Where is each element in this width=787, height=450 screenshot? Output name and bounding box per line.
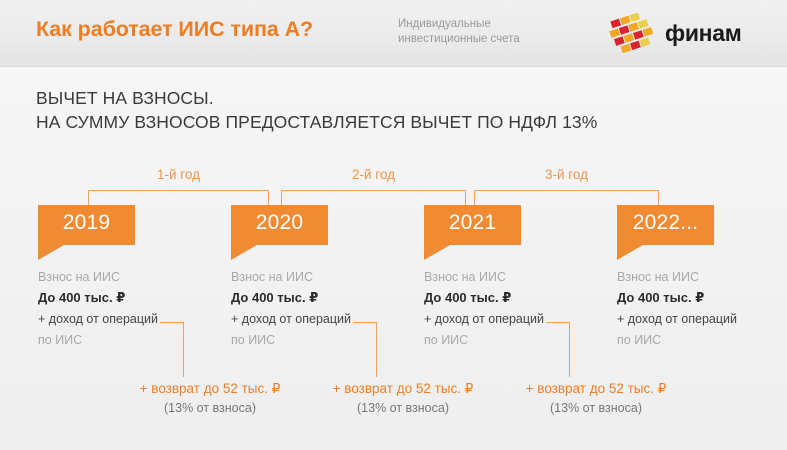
income-line-1: + доход от операций	[617, 309, 787, 330]
connector-horizontal-1	[160, 322, 184, 323]
year-tag-label: 2021	[424, 211, 521, 235]
connector-vertical-2	[376, 322, 377, 377]
connector-vertical-3	[569, 322, 570, 377]
year-tag-tail-icon	[617, 245, 643, 260]
income-line-1: + доход от операций	[38, 309, 228, 330]
year-bracket-3	[474, 190, 659, 206]
contribution-label: Взнос на ИИС	[617, 267, 787, 287]
page-header: Как работает ИИС типа А? Индивидуальные …	[0, 0, 787, 67]
year-bracket-label-1: 1-й год	[88, 167, 269, 182]
section-subtitle: ВЫЧЕТ НА ВЗНОСЫ. НА СУММУ ВЗНОСОВ ПРЕДОС…	[36, 86, 597, 134]
contribution-block-2019: Взнос на ИИС До 400 тыс. ₽ + доход от оп…	[38, 267, 228, 350]
year-column-2021: 2021 Взнос на ИИС До 400 тыс. ₽ + доход …	[424, 205, 614, 245]
year-tag-tail-icon	[424, 245, 450, 260]
year-tag-label: 2020	[231, 211, 328, 235]
finam-logo: финам	[607, 13, 771, 53]
year-tag-2019[interactable]: 2019	[38, 205, 135, 245]
refund-block-3: + возврат до 52 тыс. ₽ (13% от взноса)	[481, 379, 711, 418]
income-line-2: по ИИС	[38, 330, 228, 350]
year-bracket-1	[88, 190, 269, 206]
header-subtitle-line2: инвестиционные счета	[398, 33, 520, 45]
contribution-block-2022: Взнос на ИИС До 400 тыс. ₽ + доход от оп…	[617, 267, 787, 350]
contribution-label: Взнос на ИИС	[424, 267, 614, 287]
year-tag-2020[interactable]: 2020	[231, 205, 328, 245]
connector-vertical-1	[183, 322, 184, 377]
year-tag-tail-icon	[38, 245, 64, 260]
page-title: Как работает ИИС типа А?	[36, 17, 313, 42]
year-column-2022: 2022... Взнос на ИИС До 400 тыс. ₽ + дох…	[617, 205, 787, 245]
year-bracket-label-2: 2-й год	[281, 167, 466, 182]
year-tag-2021[interactable]: 2021	[424, 205, 521, 245]
income-line-2: по ИИС	[617, 330, 787, 350]
finam-logo-text: финам	[665, 20, 741, 47]
income-line-1: + доход от операций	[231, 309, 421, 330]
contribution-label: Взнос на ИИС	[231, 267, 421, 287]
year-bracket-label-3: 3-й год	[474, 167, 659, 182]
subtitle-line-1: ВЫЧЕТ НА ВЗНОСЫ.	[36, 86, 597, 110]
contribution-block-2021: Взнос на ИИС До 400 тыс. ₽ + доход от оп…	[424, 267, 614, 350]
contribution-value: До 400 тыс. ₽	[617, 287, 787, 309]
year-column-2019: 2019 Взнос на ИИС До 400 тыс. ₽ + доход …	[38, 205, 228, 245]
header-subtitle-line1: Индивидуальные	[398, 18, 491, 30]
refund-note: (13% от взноса)	[481, 398, 711, 418]
year-tag-2022[interactable]: 2022...	[617, 205, 714, 245]
income-line-2: по ИИС	[231, 330, 421, 350]
contribution-value: До 400 тыс. ₽	[38, 287, 228, 309]
year-tag-label: 2019	[38, 211, 135, 235]
connector-horizontal-2	[353, 322, 377, 323]
contribution-label: Взнос на ИИС	[38, 267, 228, 287]
year-tag-tail-icon	[231, 245, 257, 260]
year-bracket-2	[281, 190, 466, 206]
subtitle-line-2: НА СУММУ ВЗНОСОВ ПРЕДОСТАВЛЯЕТСЯ ВЫЧЕТ П…	[36, 110, 597, 134]
contribution-block-2020: Взнос на ИИС До 400 тыс. ₽ + доход от оп…	[231, 267, 421, 350]
contribution-value: До 400 тыс. ₽	[424, 287, 614, 309]
infographic-page: Как работает ИИС типа А? Индивидуальные …	[0, 0, 787, 450]
year-column-2020: 2020 Взнос на ИИС До 400 тыс. ₽ + доход …	[231, 205, 421, 245]
connector-horizontal-3	[546, 322, 570, 323]
year-tag-label: 2022...	[617, 211, 714, 235]
finam-logo-mark-icon	[607, 13, 659, 53]
header-subtitle: Индивидуальные инвестиционные счета	[398, 17, 520, 47]
refund-amount: + возврат до 52 тыс. ₽	[481, 379, 711, 398]
income-line-1: + доход от операций	[424, 309, 614, 330]
contribution-value: До 400 тыс. ₽	[231, 287, 421, 309]
income-line-2: по ИИС	[424, 330, 614, 350]
